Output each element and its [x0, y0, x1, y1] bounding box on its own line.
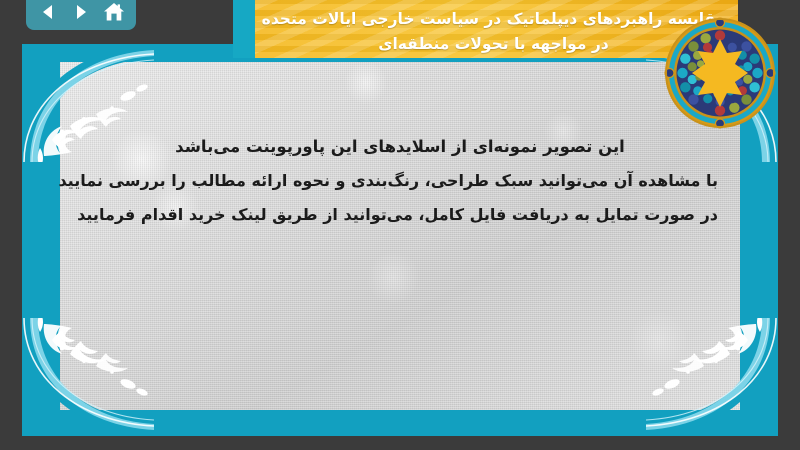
next-slide-button[interactable]: [67, 0, 95, 25]
triangle-right-icon: [71, 2, 91, 22]
slide-body-text: این تصویر نمونه‌ای از اسلایدهای این پاور…: [82, 130, 718, 232]
viewer-navigation-bar: [26, 0, 136, 30]
body-line-3: در صورت تمایل به دریافت فایل کامل، می‌تو…: [82, 198, 718, 232]
title-band-teal-tab: [233, 0, 255, 58]
slide-canvas: این تصویر نمونه‌ای از اسلایدهای این پاور…: [22, 44, 778, 436]
home-icon: [103, 2, 125, 22]
home-button[interactable]: [100, 0, 128, 25]
slide-title: مقایسه راهبردهای دیپلماتیک در سیاست خارج…: [261, 7, 726, 57]
triangle-left-icon: [38, 2, 58, 22]
slide-content-area: [60, 62, 740, 410]
previous-slide-button[interactable]: [34, 0, 62, 25]
slide-viewer: این تصویر نمونه‌ای از اسلایدهای این پاور…: [0, 0, 800, 450]
slide-title-band: مقایسه راهبردهای دیپلماتیک در سیاست خارج…: [233, 0, 738, 58]
body-line-2: با مشاهده آن می‌توانید سبک طراحی، رنگ‌بن…: [82, 164, 718, 198]
body-line-1: این تصویر نمونه‌ای از اسلایدهای این پاور…: [82, 130, 718, 164]
